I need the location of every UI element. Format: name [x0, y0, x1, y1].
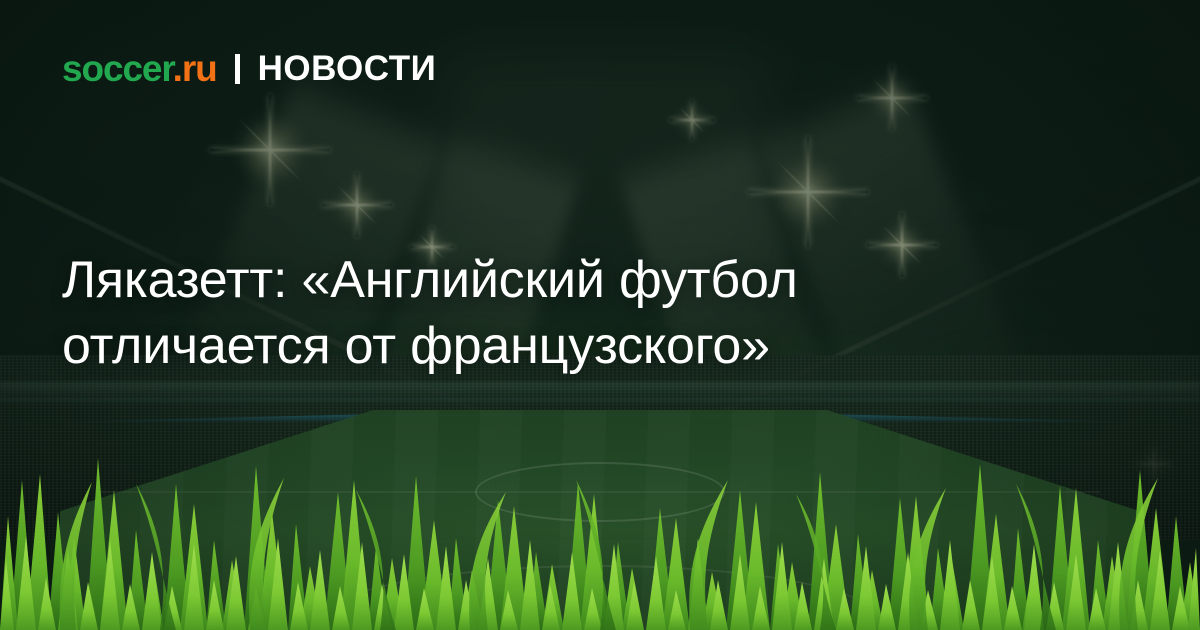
- page-title: Ляказетт: «Английский футбол отличается …: [62, 248, 982, 379]
- vertical-bar-icon: [235, 54, 240, 84]
- floodlight-flare-icon: [355, 203, 359, 207]
- logo-brand-text: soccer: [62, 48, 173, 89]
- floodlight-flare-icon: [268, 148, 272, 152]
- soccer-ru-logo[interactable]: soccer.ru: [62, 50, 217, 87]
- floodlight-flare-icon: [890, 96, 894, 100]
- section-title: НОВОСТИ: [258, 51, 437, 86]
- pitch-halfway-line: [100, 491, 1100, 493]
- news-share-card: soccer.ru НОВОСТИ Ляказетт: «Английский …: [0, 0, 1200, 630]
- stadium-upper-tier: [0, 382, 1200, 398]
- logo-tld-text: .ru: [173, 48, 217, 89]
- floodlight-flare-icon: [900, 243, 904, 247]
- floodlight-flare-icon: [806, 190, 810, 194]
- brand-header: soccer.ru НОВОСТИ: [62, 50, 436, 87]
- stadium-tier-rail: [0, 398, 1200, 404]
- floodlight-flare-icon: [690, 118, 694, 122]
